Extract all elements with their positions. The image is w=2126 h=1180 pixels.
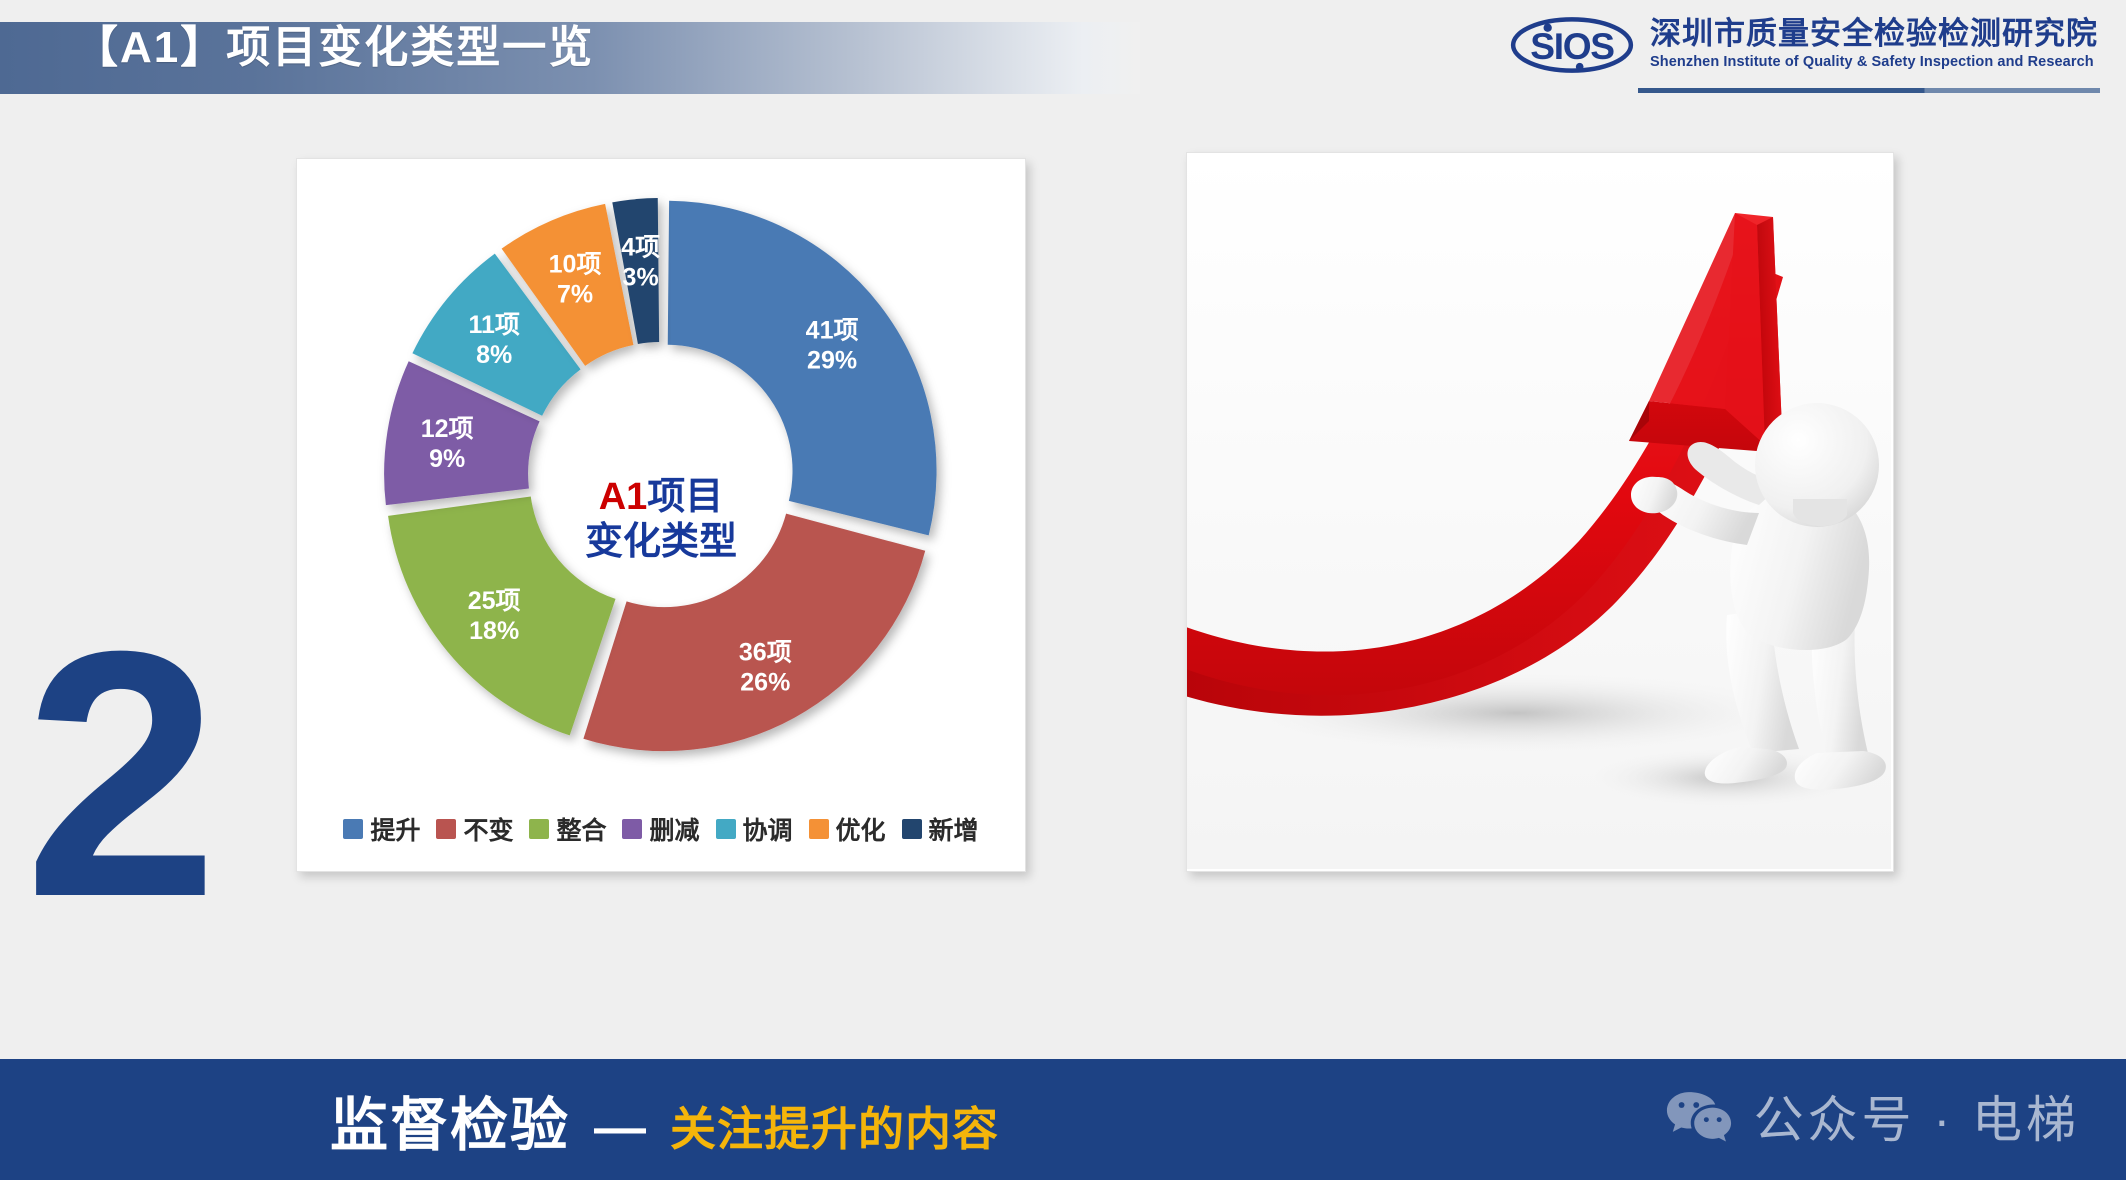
logo-name-en: Shenzhen Institute of Quality & Safety I… bbox=[1650, 54, 2098, 70]
svg-text:SIOS: SIOS bbox=[1530, 25, 1614, 67]
donut-percent-label: 26% bbox=[740, 669, 790, 697]
legend-swatch bbox=[716, 819, 736, 839]
legend-swatch bbox=[436, 819, 456, 839]
donut-value-label: 25项 bbox=[468, 587, 521, 615]
donut-percent-label: 18% bbox=[469, 617, 519, 645]
legend-swatch bbox=[343, 819, 363, 839]
slide-root: 【A1】项目变化类型一览 SIOS 深圳市质量安全检验检测研究院 Shenzhe… bbox=[0, 0, 2126, 1180]
logo-name-cn: 深圳市质量安全检验检测研究院 bbox=[1650, 18, 2098, 51]
donut-value-label: 36项 bbox=[739, 639, 792, 667]
legend-swatch bbox=[529, 819, 549, 839]
wechat-icon bbox=[1666, 1090, 1732, 1142]
donut-percent-label: 9% bbox=[429, 445, 465, 473]
donut-percent-label: 29% bbox=[807, 346, 857, 374]
donut-percent-label: 8% bbox=[476, 341, 512, 369]
legend-swatch bbox=[622, 819, 642, 839]
legend-label: 优化 bbox=[836, 811, 886, 847]
footer-sub-label: 关注提升的内容 bbox=[670, 1093, 999, 1159]
legend-swatch bbox=[809, 819, 829, 839]
donut-value-label: 4项 bbox=[621, 233, 660, 261]
legend-item[interactable]: 删减 bbox=[622, 811, 699, 847]
donut-center-line2: 变化类型 bbox=[585, 520, 737, 565]
donut-percent-label: 3% bbox=[623, 263, 659, 291]
legend-label: 删减 bbox=[649, 811, 699, 847]
growth-arrow-illustration bbox=[1187, 153, 1893, 871]
wechat-account-label: 公众号 · 电梯 bbox=[1754, 1080, 2080, 1152]
footer-main-label: 监督检验 bbox=[330, 1078, 570, 1162]
donut-value-label: 41项 bbox=[806, 316, 859, 344]
donut-center-line1: A1项目 bbox=[585, 475, 737, 520]
legend-item[interactable]: 整合 bbox=[529, 811, 606, 847]
donut-chart-card: 41项29%36项26%25项18%12项9%11项8%10项7%4项3% A1… bbox=[296, 158, 1026, 872]
legend-item[interactable]: 优化 bbox=[809, 811, 886, 847]
donut-value-label: 10项 bbox=[549, 250, 602, 278]
donut-percent-label: 7% bbox=[557, 280, 593, 308]
page-title: 【A1】项目变化类型一览 bbox=[74, 26, 594, 70]
logo-underline bbox=[1638, 88, 2100, 93]
section-number: 2 bbox=[24, 600, 213, 950]
donut-center-label: A1项目 变化类型 bbox=[585, 475, 737, 565]
legend-label: 新增 bbox=[929, 811, 979, 847]
legend-label: 不变 bbox=[463, 811, 513, 847]
donut-center-rest: 项目 bbox=[647, 476, 723, 518]
legend-item[interactable]: 新增 bbox=[902, 811, 979, 847]
donut-center-highlight: A1 bbox=[599, 476, 648, 518]
legend-item[interactable]: 提升 bbox=[343, 811, 420, 847]
wechat-watermark: 公众号 · 电梯 bbox=[1666, 1080, 2080, 1152]
legend-label: 整合 bbox=[556, 811, 606, 847]
legend-label: 提升 bbox=[370, 811, 420, 847]
footer-dash: — bbox=[594, 1098, 646, 1158]
growth-arrow-svg bbox=[1187, 153, 1891, 869]
donut-value-label: 12项 bbox=[421, 415, 474, 443]
growth-arrow-image-card bbox=[1186, 152, 1894, 872]
chart-legend: 提升不变整合删减协调优化新增 bbox=[297, 811, 1025, 847]
legend-swatch bbox=[902, 819, 922, 839]
footer-title-group: 监督检验 — 关注提升的内容 bbox=[330, 1078, 999, 1162]
legend-item[interactable]: 协调 bbox=[716, 811, 793, 847]
legend-label: 协调 bbox=[743, 811, 793, 847]
sios-ellipse-logo-icon: SIOS bbox=[1508, 14, 1636, 76]
legend-item[interactable]: 不变 bbox=[436, 811, 513, 847]
donut-value-label: 11项 bbox=[468, 311, 519, 339]
organization-logo: SIOS 深圳市质量安全检验检测研究院 Shenzhen Institute o… bbox=[1508, 14, 2098, 76]
donut-segment[interactable] bbox=[388, 496, 615, 735]
donut-chart: 41项29%36项26%25项18%12项9%11项8%10项7%4项3% A1… bbox=[297, 159, 1025, 789]
